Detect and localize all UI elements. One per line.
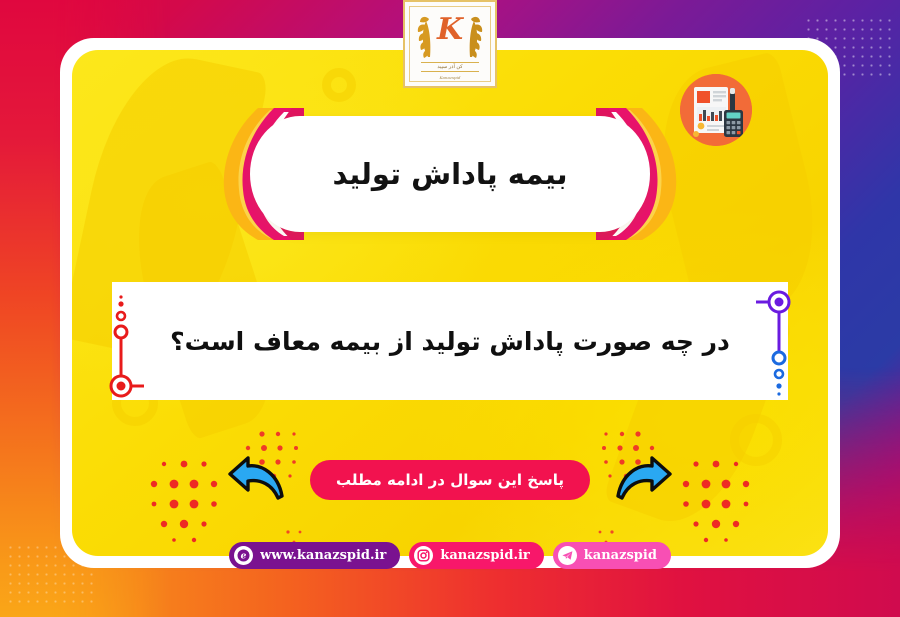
logo-divider-top — [421, 62, 479, 63]
arrow-left-icon[interactable] — [226, 456, 288, 504]
telegram-badge[interactable]: kanazspid — [553, 542, 671, 569]
website-label: www.kanazspid.ir — [260, 549, 386, 562]
brand-logo-inner: K کن آذر سپید Kanazspid — [409, 6, 491, 82]
title-ribbon: بیمه پاداش تولید — [204, 108, 696, 240]
ribbon-title-plate: بیمه پاداش تولید — [250, 116, 650, 232]
website-badge[interactable]: e www.kanazspid.ir — [229, 542, 400, 569]
financial-report-icon — [680, 74, 752, 146]
poster-canvas: K کن آذر سپید Kanazspid — [0, 0, 900, 617]
svg-text:e: e — [241, 552, 247, 562]
logo-subtitle: Kanazspid — [440, 75, 461, 80]
watermark-ring-2 — [322, 68, 356, 102]
website-icon: e — [234, 546, 253, 565]
cta-button[interactable]: پاسخ این سوال در ادامه مطلب — [310, 460, 590, 500]
question-card: در چه صورت پاداش تولید از بیمه معاف است؟ — [112, 282, 788, 400]
logo-caption: کن آذر سپید — [437, 64, 462, 70]
instagram-icon — [414, 546, 433, 565]
instagram-badge[interactable]: kanazspid.ir — [409, 542, 543, 569]
page-title: بیمه پاداش تولید — [332, 157, 567, 191]
footer-social-bar: e www.kanazspid.ir kanazspid.ir — [0, 542, 900, 569]
instagram-label: kanazspid.ir — [440, 549, 529, 562]
monogram-letter: K — [414, 15, 486, 45]
telegram-label: kanazspid — [584, 549, 657, 562]
question-text: در چه صورت پاداش تولید از بیمه معاف است؟ — [126, 327, 774, 356]
telegram-icon — [558, 546, 577, 565]
logo-divider-bottom — [421, 71, 479, 72]
cta-row: پاسخ این سوال در ادامه مطلب — [0, 448, 900, 512]
brand-logo-plate: K کن آذر سپید Kanazspid — [403, 0, 497, 88]
arrow-right-icon[interactable] — [612, 456, 674, 504]
laurel-wreath-icon: K — [414, 11, 486, 61]
